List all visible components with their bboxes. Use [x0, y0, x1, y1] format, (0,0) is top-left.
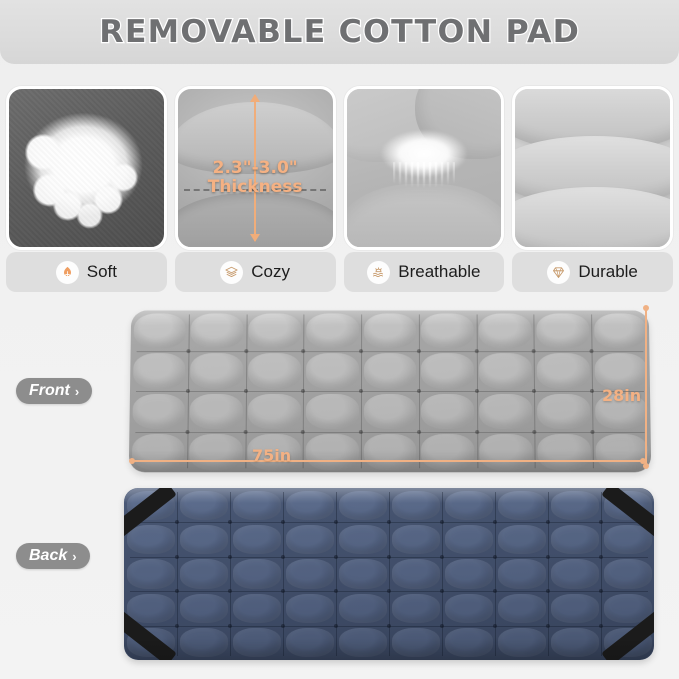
front-view-section: Front › 75in 28in — [0, 300, 679, 480]
quilt-puff — [392, 525, 440, 554]
chevron-right-icon: › — [72, 549, 76, 564]
quilt-seam — [230, 492, 231, 656]
quilt-puff — [233, 559, 281, 588]
quilt-puff — [364, 353, 417, 388]
quilt-puff — [392, 491, 440, 520]
tuft-point — [359, 430, 363, 434]
quilt-seam — [283, 492, 284, 656]
thickness-photo: 2.3"-3.0" Thickness — [175, 86, 336, 250]
feature-card-durable: Durable — [512, 252, 673, 292]
breathable-photo — [344, 86, 505, 250]
tuft-point — [281, 520, 285, 524]
quilt-puff — [445, 525, 493, 554]
tuft-point — [175, 555, 179, 559]
quilt-puff — [190, 393, 243, 429]
feature-label: Soft — [87, 262, 117, 282]
quilt-puff — [133, 313, 186, 348]
tuft-point — [599, 520, 603, 524]
thickness-callout: 2.3"-3.0" Thickness — [178, 159, 333, 197]
tuft-point — [186, 389, 190, 393]
quilt-puff — [306, 353, 359, 388]
quilt-seam — [137, 351, 644, 352]
quilt-puff — [127, 525, 175, 554]
quilt-puff — [537, 393, 590, 429]
quilt-puff — [180, 559, 228, 588]
quilt-puff — [421, 393, 474, 429]
tuft-point — [546, 555, 550, 559]
back-pad-tufting — [124, 488, 654, 660]
quilt-seam — [336, 492, 337, 656]
quilt-puff — [233, 594, 281, 623]
quilt-puff — [594, 353, 647, 388]
tuft-point — [532, 349, 536, 353]
tuft-point — [334, 520, 338, 524]
tuft-point — [440, 555, 444, 559]
quilt-seam — [442, 492, 443, 656]
quilt-puff — [392, 594, 440, 623]
tuft-point — [186, 349, 190, 353]
tuft-point — [281, 589, 285, 593]
sun-waves-icon — [367, 261, 390, 284]
quilt-puff — [286, 525, 334, 554]
tuft-point — [440, 589, 444, 593]
quilt-puff — [190, 353, 243, 388]
tuft-point — [281, 555, 285, 559]
tuft-point — [599, 555, 603, 559]
quilt-puff — [180, 594, 228, 623]
tuft-point — [301, 430, 305, 434]
front-view-pill[interactable]: Front › — [16, 378, 92, 404]
quilt-puff — [339, 525, 387, 554]
tuft-point — [359, 389, 363, 393]
back-pad — [124, 488, 654, 660]
tuft-point — [493, 624, 497, 628]
quilt-puff — [551, 594, 599, 623]
tuft-point — [243, 430, 247, 434]
tuft-point — [244, 389, 248, 393]
quilt-puff — [498, 525, 546, 554]
tuft-point — [533, 430, 537, 434]
quilt-puff — [498, 594, 546, 623]
tuft-point — [175, 624, 179, 628]
tuft-point — [185, 430, 189, 434]
quilt-puff — [479, 353, 532, 388]
quilt-puff — [536, 313, 589, 348]
quilt-puff — [180, 491, 228, 520]
front-pill-label: Front — [29, 382, 70, 400]
tuft-point — [493, 520, 497, 524]
thickness-value: 2.3"-3.0" — [178, 159, 333, 178]
feature-label: Cozy — [251, 262, 290, 282]
width-dimension-label: 28in — [602, 386, 641, 405]
quilt-puff — [594, 313, 647, 348]
quilt-puff — [339, 594, 387, 623]
tuft-point — [244, 349, 248, 353]
tuft-point — [417, 389, 421, 393]
quilt-puff — [286, 491, 334, 520]
tuft-point — [359, 349, 363, 353]
quilt-puff — [551, 525, 599, 554]
page-title: REMOVABLE COTTON PAD — [99, 14, 580, 50]
tuft-point — [175, 520, 179, 524]
tuft-point — [440, 624, 444, 628]
feature-card-cozy: Cozy — [175, 252, 336, 292]
quilt-puff — [604, 559, 652, 588]
front-pad — [129, 310, 651, 472]
quilt-puff — [479, 393, 532, 429]
diamond-icon — [547, 261, 570, 284]
quilt-puff — [421, 353, 474, 388]
tuft-point — [590, 389, 594, 393]
quilt-puff — [537, 353, 590, 388]
tuft-point — [532, 389, 536, 393]
tuft-point — [387, 555, 391, 559]
quilt-puff — [364, 393, 417, 429]
tuft-point — [599, 624, 603, 628]
quilt-seam — [601, 492, 602, 656]
tuft-point — [546, 520, 550, 524]
quilt-puff — [132, 393, 185, 429]
feature-label: Durable — [578, 262, 638, 282]
tuft-point — [175, 589, 179, 593]
tuft-point — [417, 430, 421, 434]
tuft-point — [301, 389, 305, 393]
quilt-puff — [306, 393, 359, 429]
quilt-seam — [548, 492, 549, 656]
feather-icon — [56, 261, 79, 284]
quilt-puff — [248, 353, 301, 388]
quilt-puff — [445, 491, 493, 520]
tuft-point — [228, 624, 232, 628]
quilt-puff — [233, 525, 281, 554]
tuft-point — [281, 624, 285, 628]
length-dimension-line — [132, 460, 643, 462]
tuft-point — [334, 624, 338, 628]
length-dimension-label: 75in — [252, 446, 291, 465]
chevron-right-icon: › — [75, 384, 79, 399]
durable-photo — [512, 86, 673, 250]
tuft-point — [387, 624, 391, 628]
tuft-point — [228, 555, 232, 559]
quilt-puff — [364, 313, 417, 348]
quilt-seam — [495, 492, 496, 656]
quilt-seam — [135, 432, 644, 433]
quilt-seam — [136, 391, 644, 392]
quilt-puff — [339, 559, 387, 588]
tuft-point — [228, 520, 232, 524]
quilt-puff — [306, 313, 359, 348]
quilt-seam — [389, 492, 390, 656]
quilt-puff — [445, 594, 493, 623]
quilt-puff — [479, 313, 532, 348]
quilt-puff — [180, 525, 228, 554]
quilt-puff — [392, 559, 440, 588]
tuft-point — [493, 555, 497, 559]
quilt-puff — [133, 353, 186, 388]
back-view-pill[interactable]: Back › — [16, 543, 90, 569]
quilt-puff — [498, 559, 546, 588]
quilt-puff — [498, 491, 546, 520]
front-pad-tufting — [129, 310, 651, 472]
tuft-point — [599, 589, 603, 593]
tuft-point — [590, 349, 594, 353]
header-band: REMOVABLE COTTON PAD — [0, 0, 679, 64]
quilt-puff — [286, 594, 334, 623]
quilt-puff — [339, 491, 387, 520]
feature-label-row: Soft Cozy Breathable — [6, 252, 673, 292]
quilt-puff — [604, 525, 652, 554]
quilt-seam — [177, 492, 178, 656]
back-view-section: Back › — [0, 478, 679, 679]
quilt-puff — [286, 559, 334, 588]
layers-icon — [220, 261, 243, 284]
tuft-point — [334, 589, 338, 593]
feature-card-breathable: Breathable — [344, 252, 505, 292]
tuft-point — [387, 520, 391, 524]
quilt-puff — [445, 559, 493, 588]
product-infographic: REMOVABLE COTTON PAD 2.3"-3.0" Thickness — [0, 0, 679, 679]
tuft-point — [546, 624, 550, 628]
pad-bottom-shadow — [124, 638, 654, 660]
tuft-point — [493, 589, 497, 593]
quilt-puff — [551, 491, 599, 520]
thickness-label: Thickness — [178, 178, 333, 197]
tuft-point — [417, 349, 421, 353]
tuft-point — [334, 555, 338, 559]
tuft-point — [440, 520, 444, 524]
quilt-puff — [127, 559, 175, 588]
tuft-point — [591, 430, 595, 434]
quilt-puff — [421, 313, 474, 348]
cotton-fill-photo — [6, 86, 167, 250]
feature-label: Breathable — [398, 262, 480, 282]
feature-photo-row: 2.3"-3.0" Thickness — [6, 86, 673, 250]
back-pill-label: Back — [29, 547, 67, 565]
tuft-point — [475, 430, 479, 434]
width-dimension-line — [645, 308, 647, 466]
tuft-point — [546, 589, 550, 593]
feature-card-soft: Soft — [6, 252, 167, 292]
quilt-puff — [233, 491, 281, 520]
quilt-puff — [191, 313, 244, 348]
tuft-point — [302, 349, 306, 353]
quilt-puff — [248, 393, 301, 429]
tuft-point — [228, 589, 232, 593]
tuft-point — [387, 589, 391, 593]
cushion-roll — [512, 187, 673, 250]
quilt-puff — [248, 313, 301, 348]
quilt-puff — [551, 559, 599, 588]
tuft-point — [475, 389, 479, 393]
tuft-point — [474, 349, 478, 353]
